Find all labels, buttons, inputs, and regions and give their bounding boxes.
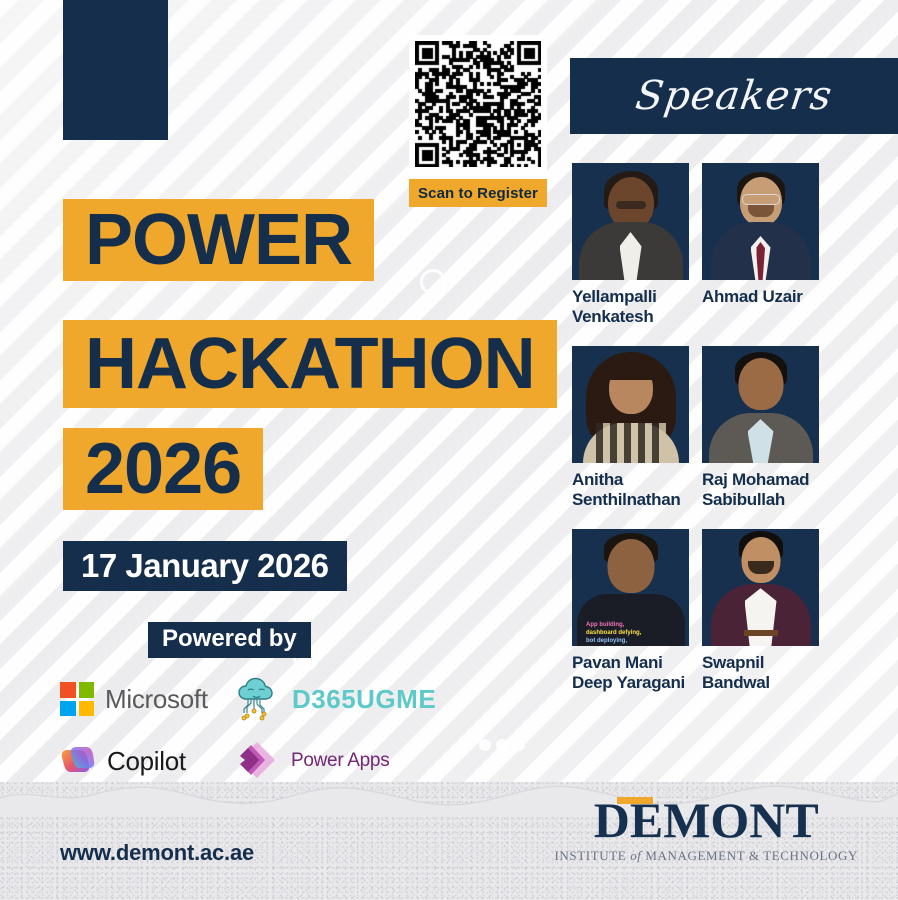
demont-accent-bar [617,797,653,804]
speaker-photo-ahmad-uzair [702,163,819,280]
headline-year: 2026 [63,428,263,510]
sponsor-label: Copilot [107,746,186,777]
sponsor-copilot[interactable]: Copilot [60,744,235,778]
speaker-name: Ahmad Uzair [702,287,832,307]
speaker-card[interactable]: Swapnil Bandwal [702,529,832,693]
tagline-post: MANAGEMENT & TECHNOLOGY [642,848,859,863]
speaker-photo-anitha-senthilnathan [572,346,689,463]
speaker-name: Pavan Mani Deep Yaragani [572,653,702,693]
speaker-photo-pavan-mani-deep-yaragani: App building, dashboard defying, bot dep… [572,529,689,646]
demont-logo: DEMONT INSTITUTE of MANAGEMENT & TECHNOL… [555,795,859,864]
demont-tagline: INSTITUTE of MANAGEMENT & TECHNOLOGY [555,848,859,864]
footer-band: www.demont.ac.ae DEMONT INSTITUTE of MAN… [0,782,898,900]
headline-power: POWER [63,199,374,281]
decorative-ring-icon [420,269,446,295]
sponsor-logo-grid: Microsoft [60,668,460,792]
poster-canvas: Scan to Register POWER HACKATHON 2026 17… [0,0,898,900]
speaker-name: Swapnil Bandwal [702,653,832,693]
power-apps-logo-icon [235,739,281,783]
speaker-card[interactable]: Raj Mohamad Sabibullah [702,346,832,510]
website-url[interactable]: www.demont.ac.ae [60,840,254,866]
speaker-card[interactable]: Anitha Senthilnathan [572,346,702,510]
copilot-logo-icon [60,744,96,778]
speaker-card[interactable]: App building, dashboard defying, bot dep… [572,529,702,693]
decorative-dot-icon [479,739,491,751]
demont-wordmark: DEMONT [555,795,859,845]
sponsor-power-apps[interactable]: Power Apps [235,739,455,783]
speaker-photo-swapnil-bandwal [702,529,819,646]
sponsor-label: D365UGME [292,684,436,715]
tagline-pre: INSTITUTE [555,848,631,863]
powered-by-label: Powered by [148,622,311,658]
speaker-name: Yellampalli Venkatesh [572,287,702,327]
speaker-card[interactable]: Ahmad Uzair [702,163,832,327]
scan-to-register-label: Scan to Register [409,179,547,207]
speakers-heading: Speakers [633,73,836,119]
sponsor-label: Power Apps [291,750,389,772]
tagline-of: of [630,848,641,863]
speaker-photo-raj-mohamad-sabibullah [702,346,819,463]
decorative-dot-icon [513,739,525,751]
speakers-banner: Speakers [570,58,898,134]
speakers-grid: Yellampalli Venkatesh Ahmad Uzair [572,163,898,693]
decorative-dot-icon [496,739,508,751]
sponsor-microsoft[interactable]: Microsoft [60,682,235,716]
qr-code-icon[interactable] [415,41,541,167]
speaker-name: Anitha Senthilnathan [572,470,702,510]
speaker-name: Raj Mohamad Sabibullah [702,470,832,510]
event-date-badge: 17 January 2026 [63,541,347,591]
headline-hackathon: HACKATHON [63,320,557,408]
corner-accent-block [63,0,168,140]
d365ugme-cloud-icon [235,677,281,721]
microsoft-logo-icon [60,682,94,716]
sponsor-d365ugme[interactable]: D365UGME [235,677,455,721]
speaker-photo-yellampalli-venkatesh [572,163,689,280]
sponsor-label: Microsoft [105,684,208,715]
speaker-card[interactable]: Yellampalli Venkatesh [572,163,702,327]
